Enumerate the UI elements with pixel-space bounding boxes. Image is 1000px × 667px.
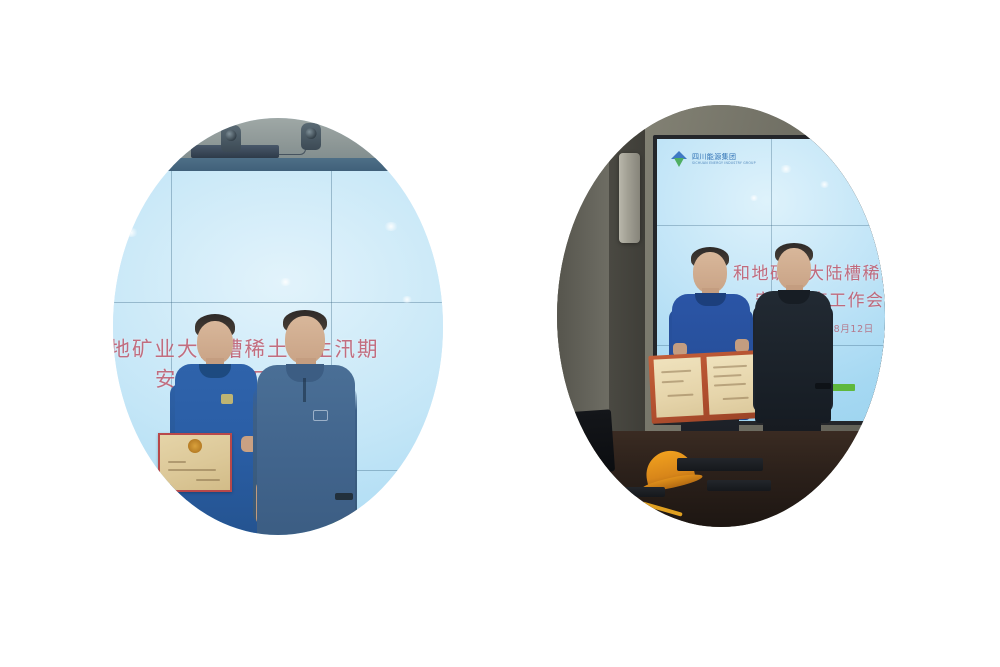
certificate-text-line: [168, 469, 216, 471]
certificate-emblem: [188, 439, 202, 453]
shirt-placket: [303, 378, 306, 402]
award-presentation-photo-right: 四川能源集团 SICHUAN ENERGY INDUSTRY GROUP 和地矿…: [557, 105, 885, 527]
wall-speaker: [619, 153, 640, 243]
head: [285, 316, 325, 364]
wristwatch: [335, 493, 353, 500]
screen-seam: [113, 302, 443, 303]
company-logo: 四川能源集团 SICHUAN ENERGY INDUSTRY GROUP: [671, 151, 756, 168]
screen-seam: [657, 225, 885, 226]
screen-glare: [123, 228, 139, 237]
photo-right-content: 四川能源集团 SICHUAN ENERGY INDUSTRY GROUP 和地矿…: [557, 105, 885, 527]
desk-equipment: [617, 487, 665, 497]
torso: [257, 365, 355, 535]
desk-equipment: [707, 480, 771, 491]
wristwatch: [815, 383, 831, 389]
screen-glare: [279, 278, 292, 286]
certificate-page-left: [654, 357, 704, 417]
uniform-badge: [221, 394, 233, 404]
screen-glare: [779, 165, 793, 173]
document-page: 和地矿业大陆槽稀土矿主汛期 安全检查工作会 2025年 月 日: [0, 0, 1000, 667]
certificate-open-book: [654, 354, 757, 417]
certificate-page-right: [706, 354, 756, 414]
ceiling-trim: [113, 158, 443, 171]
screen-glare: [749, 195, 759, 201]
screen-glare: [383, 222, 399, 231]
screen-glare: [819, 181, 830, 188]
monitor-rear: [559, 409, 615, 474]
desk-equipment: [677, 458, 763, 471]
logo-name-cn: 四川能源集团: [692, 154, 756, 161]
logo-name-en: SICHUAN ENERGY INDUSTRY GROUP: [692, 162, 756, 165]
torso: [755, 291, 831, 423]
person-presenter: [253, 310, 373, 535]
screen-glare: [401, 296, 413, 303]
video-conference-camera: [301, 123, 321, 150]
photo-left-content: 和地矿业大陆槽稀土矿主汛期 安全检查工作会 2025年 月 日: [113, 118, 443, 535]
certificate-text-line: [196, 479, 220, 481]
certificate: [158, 433, 232, 492]
head: [693, 252, 727, 293]
certificate-text-line: [168, 461, 186, 463]
head: [777, 248, 811, 290]
video-conference-camera: [221, 125, 241, 152]
logo-mountain-icon: [671, 151, 688, 168]
award-presentation-photo-left: 和地矿业大陆槽稀土矿主汛期 安全检查工作会 2025年 月 日: [113, 118, 443, 535]
shirt-logo: [313, 410, 328, 421]
